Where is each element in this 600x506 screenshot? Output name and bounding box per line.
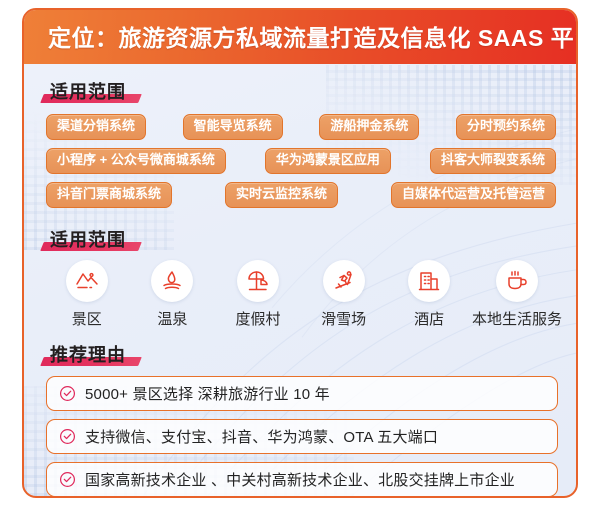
scope-tag[interactable]: 实时云监控系统 (225, 182, 338, 208)
reasons-section-heading: 推荐理由 (50, 341, 126, 367)
promo-card: 定位：旅游资源方私域流量打造及信息化 SAAS 平台 适用范围 渠道分销系统 智… (22, 8, 578, 498)
scope-tag[interactable]: 渠道分销系统 (46, 114, 146, 140)
scope-tag[interactable]: 游船押金系统 (319, 114, 419, 140)
check-circle-icon (59, 428, 76, 445)
pill-row: 抖音门票商城系统 实时云监控系统 自媒体代运营及托管运营 (46, 182, 560, 208)
page-title: 定位：旅游资源方私域流量打造及信息化 SAAS 平台 (22, 19, 578, 53)
industry-item-ski-resort[interactable]: 滑雪场 (301, 260, 387, 329)
building-icon (408, 260, 450, 302)
industry-item-label: 温泉 (157, 308, 187, 329)
industry-item-label: 滑雪场 (321, 308, 366, 329)
reason-text: 支持微信、支付宝、抖音、华为鸿蒙、OTA 五大端口 (85, 426, 438, 447)
scope-tag[interactable]: 抖客大师裂变系统 (430, 148, 556, 174)
scope-tag[interactable]: 分时预约系统 (456, 114, 556, 140)
scope-tag[interactable]: 自媒体代运营及托管运营 (391, 182, 556, 208)
pill-row: 小程序 + 公众号微商城系统 华为鸿蒙景区应用 抖客大师裂变系统 (46, 148, 560, 174)
card-header: 定位：旅游资源方私域流量打造及信息化 SAAS 平台 (22, 8, 578, 64)
check-circle-icon (59, 385, 76, 402)
industry-item-hot-spring[interactable]: 温泉 (130, 260, 216, 329)
coffee-cup-icon (496, 260, 538, 302)
industry-item-label: 本地生活服务 (472, 308, 562, 329)
pill-row: 渠道分销系统 智能导览系统 游船押金系统 分时预约系统 (46, 114, 560, 140)
industry-item-scenic-area[interactable]: 景区 (44, 260, 130, 329)
industry-item-label: 景区 (72, 308, 102, 329)
scope-pill-grid: 渠道分销系统 智能导览系统 游船押金系统 分时预约系统 小程序 + 公众号微商城… (46, 114, 560, 208)
industry-item-label: 酒店 (414, 308, 444, 329)
scope-heading-label: 适用范围 (50, 82, 126, 102)
scope-tag[interactable]: 华为鸿蒙景区应用 (265, 148, 391, 174)
industry-item-local-life-service[interactable]: 本地生活服务 (472, 260, 562, 329)
reasons-heading-label: 推荐理由 (50, 345, 126, 365)
scope-tag[interactable]: 抖音门票商城系统 (46, 182, 172, 208)
check-circle-icon (59, 471, 76, 488)
reasons-list: 5000+ 景区选择 深耕旅游行业 10 年 支持微信、支付宝、抖音、华为鸿蒙、… (46, 376, 558, 497)
industry-item-resort[interactable]: 度假村 (215, 260, 301, 329)
reason-row[interactable]: 5000+ 景区选择 深耕旅游行业 10 年 (46, 376, 558, 411)
industry-heading-label: 适用范围 (50, 230, 126, 250)
industry-item-label: 度假村 (235, 308, 280, 329)
scope-section-heading: 适用范围 (50, 78, 126, 104)
industry-icon-row: 景区 温泉 (44, 260, 562, 329)
mountain-icon (66, 260, 108, 302)
beach-umbrella-icon (237, 260, 279, 302)
scope-tag[interactable]: 智能导览系统 (183, 114, 283, 140)
scope-tag[interactable]: 小程序 + 公众号微商城系统 (46, 148, 226, 174)
reason-text: 国家高新技术企业 、中关村高新技术企业、北股交挂牌上市企业 (85, 469, 515, 490)
hot-spring-icon (151, 260, 193, 302)
reason-row[interactable]: 国家高新技术企业 、中关村高新技术企业、北股交挂牌上市企业 (46, 462, 558, 497)
industry-item-hotel[interactable]: 酒店 (386, 260, 472, 329)
reason-text: 5000+ 景区选择 深耕旅游行业 10 年 (85, 383, 330, 404)
skier-icon (323, 260, 365, 302)
industry-section-heading: 适用范围 (50, 226, 126, 252)
reason-row[interactable]: 支持微信、支付宝、抖音、华为鸿蒙、OTA 五大端口 (46, 419, 558, 454)
